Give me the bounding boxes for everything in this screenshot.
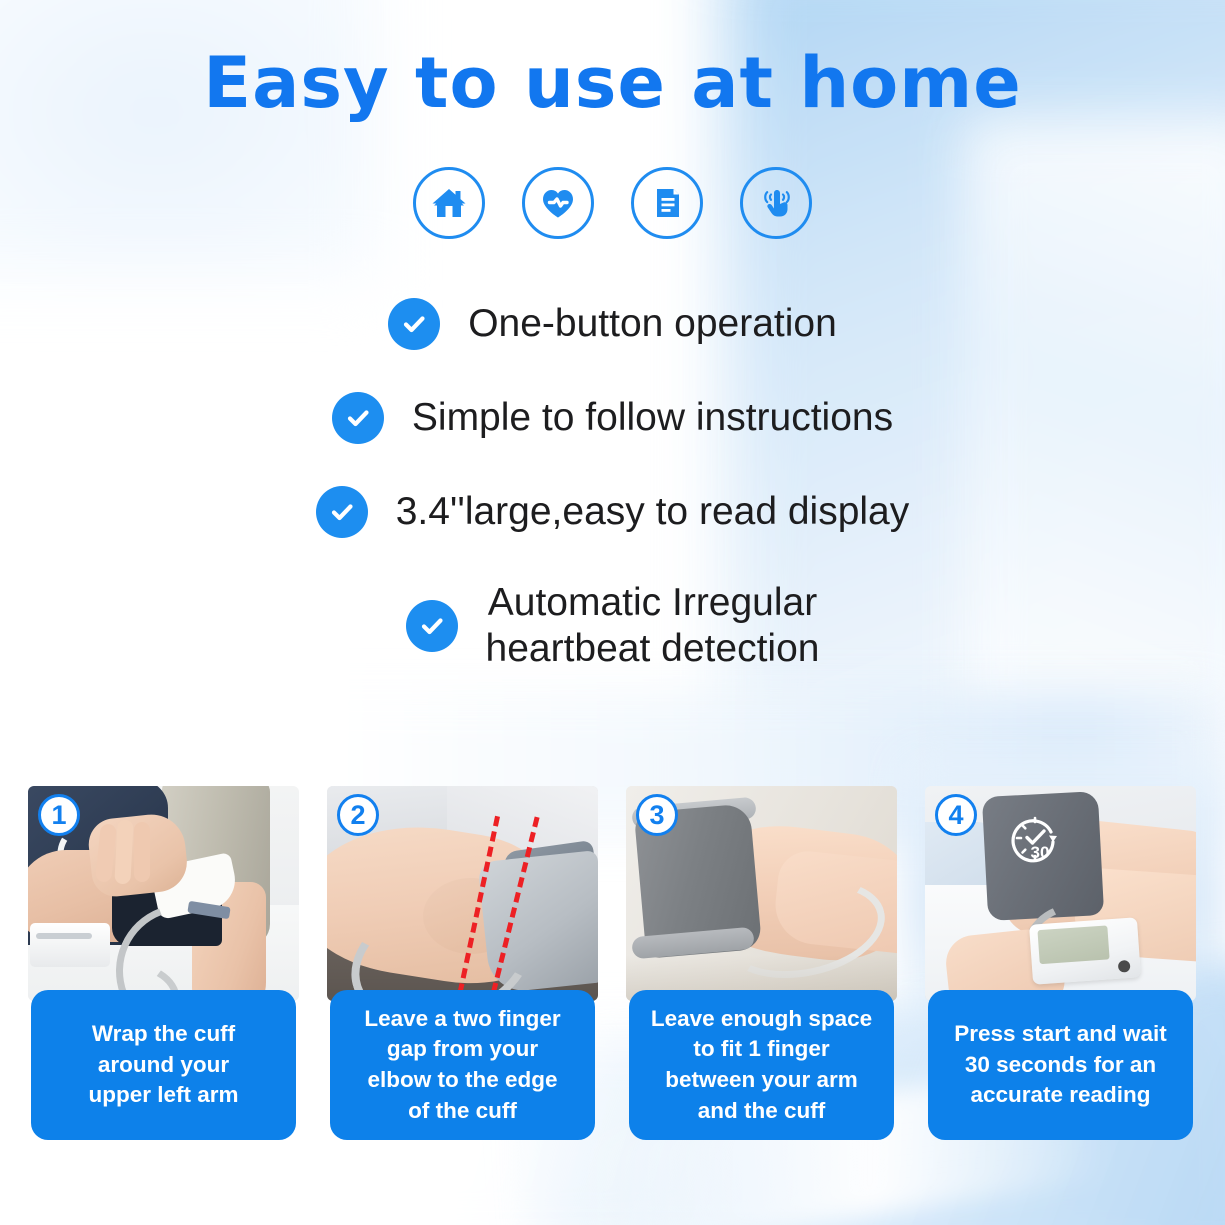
step-caption: Leave a two finger gap from your elbow t… [330,990,595,1140]
feature-list: One-button operation Simple to follow in… [0,298,1225,672]
check-icon [406,600,458,652]
document-icon [631,167,703,239]
step-card: 3 Leave enough space to fit 1 finger bet… [626,786,897,1143]
step-caption: Press start and wait 30 seconds for an a… [928,990,1193,1140]
infographic-page: Easy to use at home [0,0,1225,1225]
step-caption: Leave enough space to fit 1 finger betwe… [629,990,894,1140]
step-number-badge: 2 [337,794,379,836]
feature-label: 3.4''large,easy to read display [396,489,910,535]
step-number-badge: 1 [38,794,80,836]
feature-icon-row [0,167,1225,239]
tap-touch-icon [740,167,812,239]
feature-item: Simple to follow instructions [0,392,1225,444]
feature-label: Simple to follow instructions [412,395,893,441]
check-icon [332,392,384,444]
check-icon [388,298,440,350]
step-number-badge: 3 [636,794,678,836]
content-layer: Easy to use at home [0,0,1225,1225]
step-caption: Wrap the cuff around your upper left arm [31,990,296,1140]
home-icon [413,167,485,239]
timer-30-icon: 30 [1003,808,1067,872]
feature-label: Automatic Irregular heartbeat detection [486,580,820,672]
step-card-row: 1 Wrap the cuff around your upper left a… [28,786,1197,1143]
step-number-badge: 4 [935,794,977,836]
svg-text:30: 30 [1031,843,1050,862]
page-title: Easy to use at home [0,48,1225,118]
feature-item: Automatic Irregular heartbeat detection [0,580,1225,672]
feature-item: 3.4''large,easy to read display [0,486,1225,538]
feature-item: One-button operation [0,298,1225,350]
heart-pulse-icon [522,167,594,239]
feature-label: One-button operation [468,301,837,347]
check-icon [316,486,368,538]
step-card: 30 4 Press start and wait 30 seconds for [925,786,1196,1143]
step-card: 1 Wrap the cuff around your upper left a… [28,786,299,1143]
step-card: 2 Leave a two finger gap from your elbow… [327,786,598,1143]
